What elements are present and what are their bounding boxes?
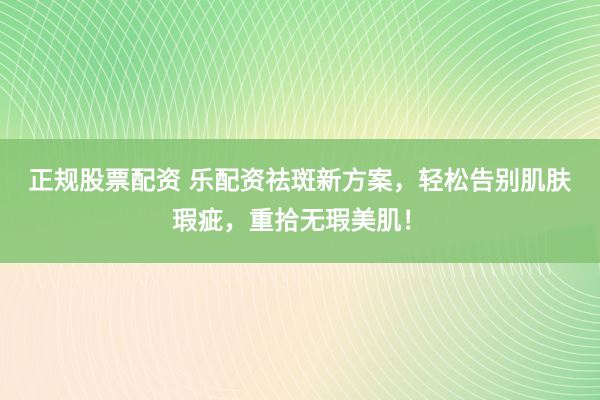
headline-band: 正规股票配资 乐配资祛斑新方案，轻松告别肌肤 瑕疵，重拾无瑕美肌！ [0,139,600,263]
headline-line-1: 正规股票配资 乐配资祛斑新方案，轻松告别肌肤 [29,161,572,202]
promo-banner: 正规股票配资 乐配资祛斑新方案，轻松告别肌肤 瑕疵，重拾无瑕美肌！ [0,0,600,400]
headline-line-2: 瑕疵，重拾无瑕美肌！ [172,201,427,242]
